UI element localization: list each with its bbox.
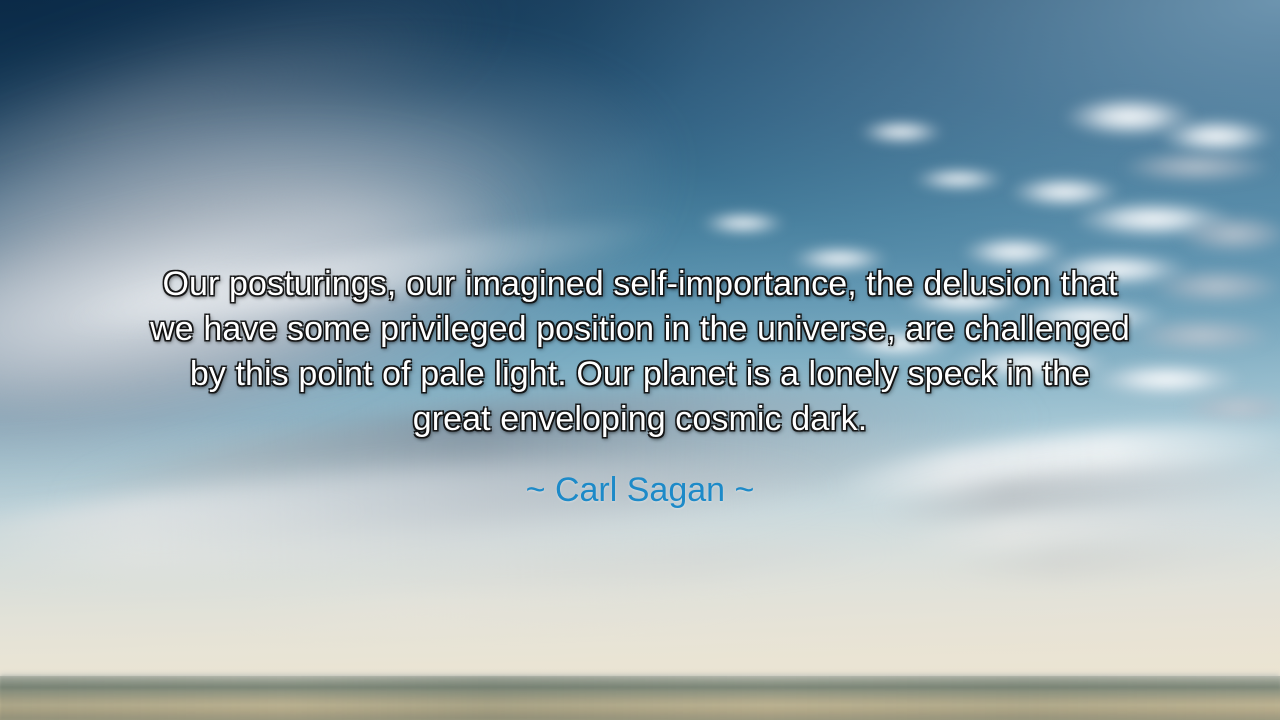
quote-line-1: Our posturings, our imagined self-import… [96,262,1184,307]
quote-line-4: great enveloping cosmic dark. [96,397,1184,442]
quote-image-canvas: Our posturings, our imagined self-import… [0,0,1280,720]
quote-attribution: ~ Carl Sagan ~ [0,468,1280,513]
quote-line-3: by this point of pale light. Our planet … [96,352,1184,397]
quote-line-2: we have some privileged position in the … [96,307,1184,352]
ground-texture [0,676,1280,720]
quote-block: Our posturings, our imagined self-import… [0,262,1280,442]
